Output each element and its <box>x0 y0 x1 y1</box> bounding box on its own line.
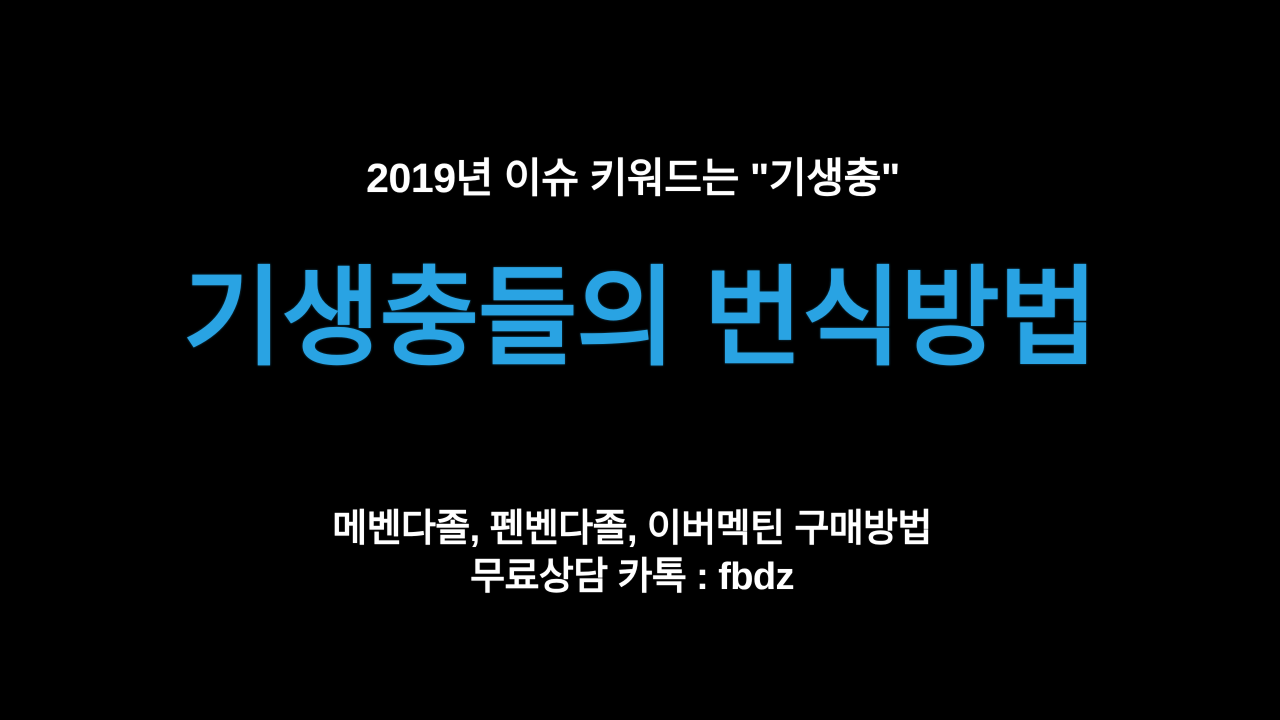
subcaption-line-contact: 무료상담 카톡 : fbdz <box>332 554 932 602</box>
title-text-stack: 2019년 이슈 키워드는 "기생충" 기생충들의 번식방법 메벤다졸, 펜벤다… <box>0 0 1280 720</box>
video-title-card: 2019년 이슈 키워드는 "기생충" 기생충들의 번식방법 메벤다졸, 펜벤다… <box>0 0 1280 720</box>
subcaption-line-products: 메벤다졸, 펜벤다졸, 이버멕틴 구매방법 <box>332 506 932 554</box>
page-title: 기생충들의 번식방법 <box>183 264 1097 372</box>
subcaption-block: 메벤다졸, 펜벤다졸, 이버멕틴 구매방법 무료상담 카톡 : fbdz <box>332 506 932 602</box>
kicker-line: 2019년 이슈 키워드는 "기생충" <box>366 156 900 202</box>
